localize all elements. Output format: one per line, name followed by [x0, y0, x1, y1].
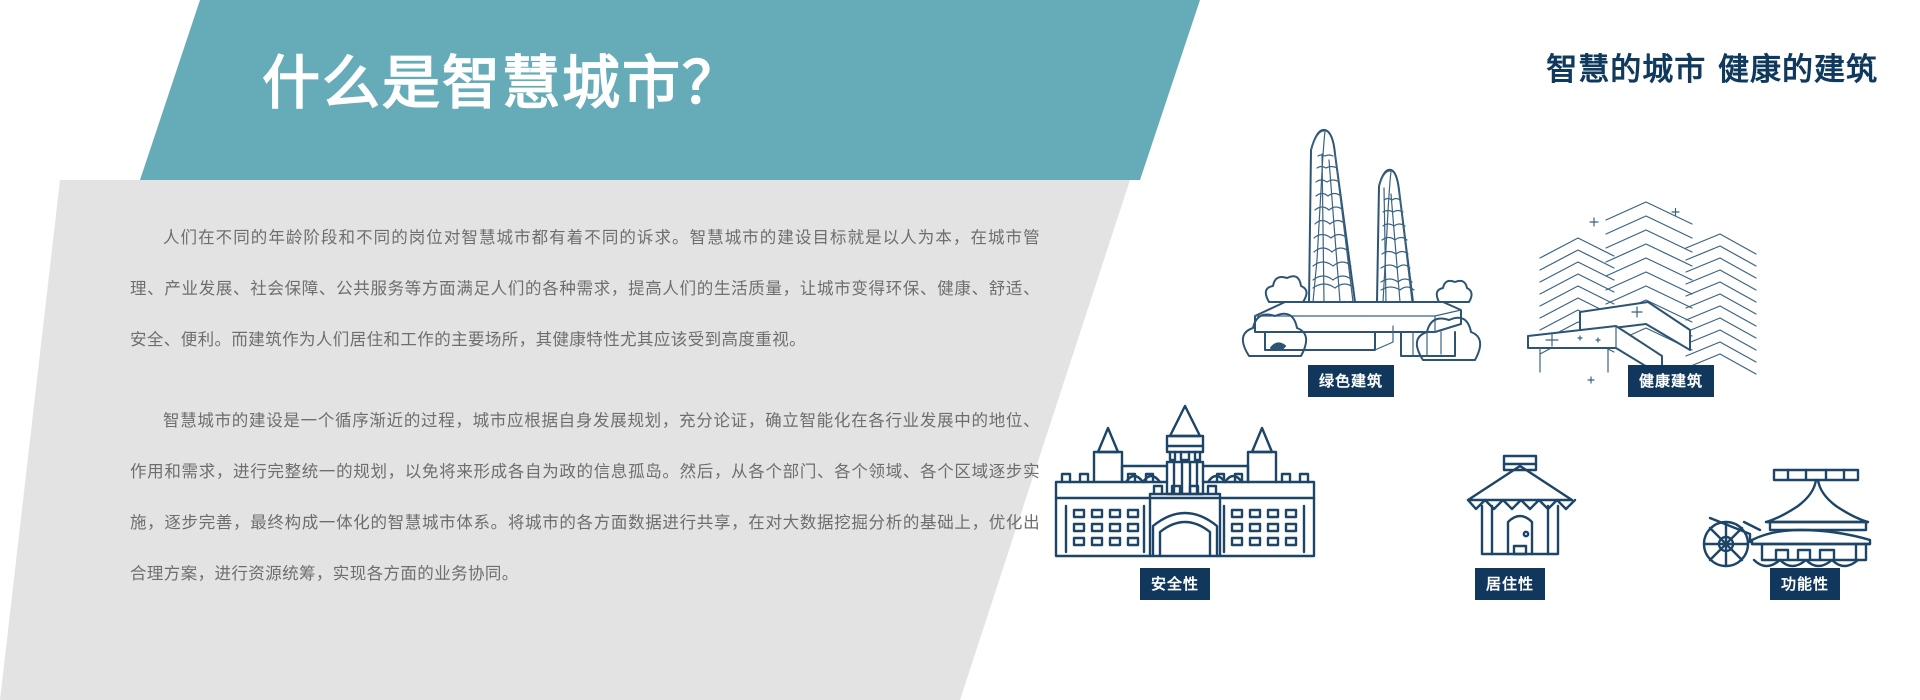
- badge-livability: 居住性: [1475, 568, 1545, 600]
- badge-green-building: 绿色建筑: [1308, 365, 1394, 397]
- paragraph-2: 智慧城市的建设是一个循序渐近的过程，城市应根据自身发展规划，充分论证，确立智能化…: [130, 395, 1040, 599]
- poster-canvas: 什么是智慧城市？ 智慧的城市 健康的建筑 人们在不同的年龄阶段和不同的岗位对智慧…: [0, 0, 1920, 700]
- badge-security: 安全性: [1140, 568, 1210, 600]
- badge-functionality: 功能性: [1770, 568, 1840, 600]
- paragraph-1: 人们在不同的年龄阶段和不同的岗位对智慧城市都有着不同的诉求。智慧城市的建设目标就…: [130, 212, 1040, 365]
- pavilion-watermill-icon: [1710, 460, 1890, 570]
- body-copy: 人们在不同的年龄阶段和不同的岗位对智慧城市都有着不同的诉求。智慧城市的建设目标就…: [130, 212, 1040, 599]
- house-icon: [1460, 450, 1580, 560]
- castle-icon: [1050, 400, 1320, 560]
- page-title: 什么是智慧城市？: [262, 36, 742, 120]
- header-tagline: 智慧的城市 健康的建筑: [1546, 44, 1878, 89]
- hospital-complex-icon: [1520, 190, 1800, 375]
- badge-health-building: 健康建筑: [1628, 365, 1714, 397]
- illustration-area: 绿色建筑: [1040, 110, 1920, 670]
- twin-towers-icon: [1225, 110, 1485, 360]
